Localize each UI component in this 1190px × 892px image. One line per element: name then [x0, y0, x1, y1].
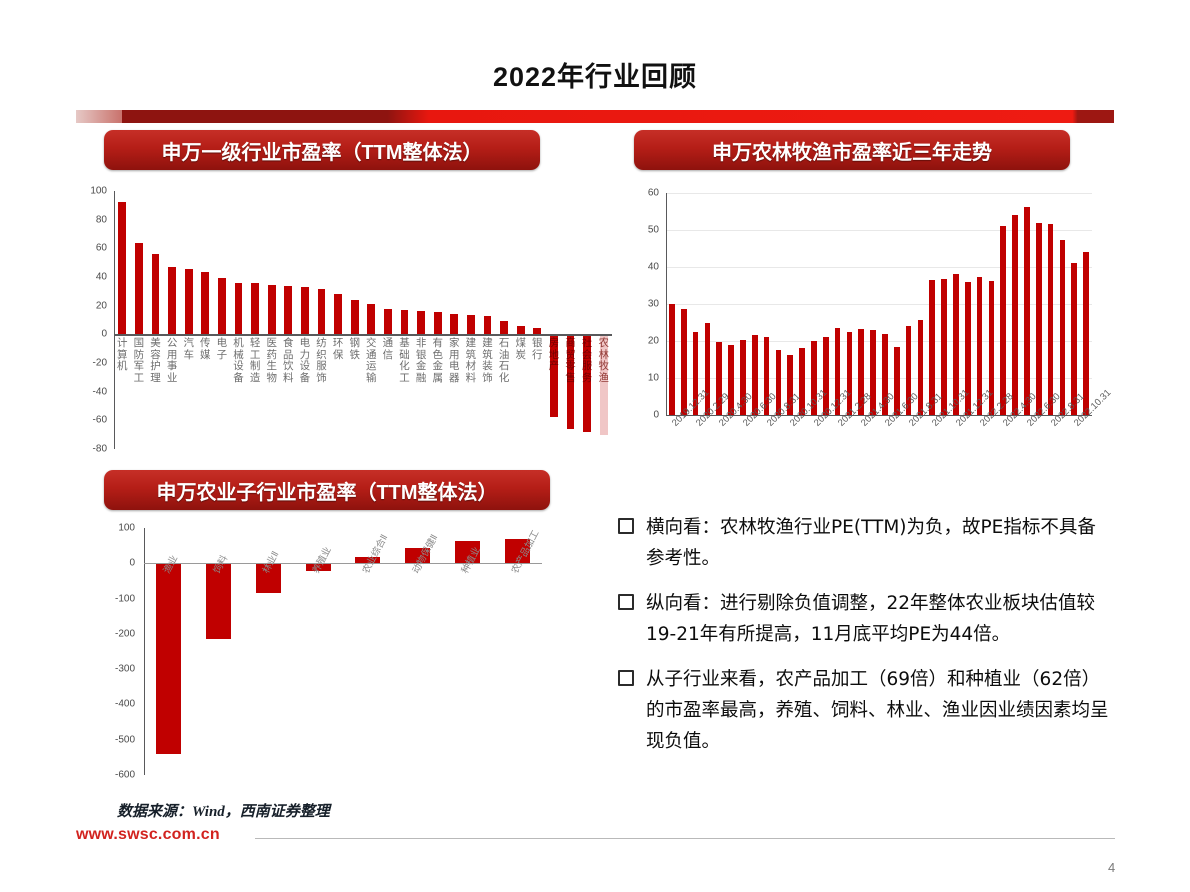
bullet-square-icon [618, 594, 634, 610]
source-note: 数据来源：Wind，西南证券整理 [117, 800, 330, 821]
x-axis-category-label: 家用电器 [447, 338, 461, 384]
y-axis-tick: 60 [78, 243, 107, 254]
bar [118, 202, 126, 334]
x-axis-category-label: 汽车 [182, 338, 196, 361]
y-axis-tick: 0 [100, 558, 135, 569]
bar [351, 300, 359, 334]
x-axis-category-label: 纺织服饰 [315, 338, 329, 384]
x-axis-category-label: 非银金融 [414, 338, 428, 384]
x-axis-category-label: 美容护理 [149, 338, 163, 384]
bar [384, 309, 392, 335]
y-axis-tick: 40 [78, 272, 107, 283]
bullet-item: 横向看：农林牧渔行业PE(TTM)为负，故PE指标不具备参考性。 [618, 512, 1114, 574]
bullet-text: 纵向看：进行剔除负值调整，22年整体农业板块估值较19-21年有所提高，11月底… [646, 588, 1114, 650]
bar [669, 304, 675, 415]
y-axis-tick: 100 [100, 523, 135, 534]
x-axis-category-label: 社会服务 [580, 338, 594, 384]
y-axis-tick: -20 [78, 358, 107, 369]
chart3-banner: 申万农业子行业市盈率（TTM整体法） [104, 470, 550, 510]
x-axis-line [144, 563, 542, 564]
bar [334, 294, 342, 334]
accent-bar [76, 110, 1114, 123]
chart-sw-level1-pe: 100806040200-20-40-60-80计算机国防军工美容护理公用事业汽… [78, 185, 618, 455]
y-axis-tick: -40 [78, 386, 107, 397]
y-axis-line [666, 193, 667, 415]
bar [218, 278, 226, 334]
bar [752, 335, 758, 415]
bullet-list: 横向看：农林牧渔行业PE(TTM)为负，故PE指标不具备参考性。纵向看：进行剔除… [618, 512, 1114, 771]
y-axis-tick: 30 [636, 299, 659, 310]
website-link[interactable]: www.swsc.com.cn [76, 826, 220, 844]
bar [185, 269, 193, 334]
bullet-text: 横向看：农林牧渔行业PE(TTM)为负，故PE指标不具备参考性。 [646, 512, 1114, 574]
bar [152, 254, 160, 334]
x-axis-category-label: 银行 [530, 338, 544, 361]
bar [156, 563, 181, 754]
bar [1024, 207, 1030, 415]
x-axis-line [114, 334, 612, 335]
bar [870, 330, 876, 415]
x-axis-category-label: 交通运输 [364, 338, 378, 384]
bullet-item: 从子行业来看，农产品加工（69倍）和种植业（62倍）的市盈率最高，养殖、饲料、林… [618, 664, 1114, 757]
x-axis-category-label: 养殖业 [308, 544, 334, 576]
bullet-text: 从子行业来看，农产品加工（69倍）和种植业（62倍）的市盈率最高，养殖、饲料、林… [646, 664, 1114, 757]
bar [235, 283, 243, 335]
chart-sw-agri-sub-pe: 1000-100-200-300-400-500-600渔业饲料林业Ⅱ养殖业农业… [100, 520, 550, 785]
bar [318, 289, 326, 334]
y-axis-tick: 60 [636, 188, 659, 199]
bar [251, 283, 259, 334]
bullet-item: 纵向看：进行剔除负值调整，22年整体农业板块估值较19-21年有所提高，11月底… [618, 588, 1114, 650]
x-axis-category-label: 国防军工 [132, 338, 146, 384]
footer-rule [255, 838, 1115, 839]
bar [168, 267, 176, 334]
bar [681, 309, 687, 415]
y-axis-tick: 0 [636, 410, 659, 421]
bar [517, 326, 525, 335]
x-axis-category-label: 通信 [381, 338, 395, 361]
bar [1000, 226, 1006, 415]
bar [467, 315, 475, 334]
x-axis-category-label: 公用事业 [165, 338, 179, 384]
bar [1060, 240, 1066, 415]
x-axis-category-label: 计算机 [115, 338, 129, 373]
y-axis-tick: -300 [100, 664, 135, 675]
x-axis-category-label: 商贸零售 [564, 338, 578, 384]
bar [500, 321, 508, 334]
y-axis-tick: -400 [100, 699, 135, 710]
y-axis-tick: 20 [636, 336, 659, 347]
x-axis-category-label: 医药生物 [265, 338, 279, 384]
bar [1012, 215, 1018, 415]
x-axis-category-label: 建筑材料 [464, 338, 478, 384]
y-axis-tick: 80 [78, 214, 107, 225]
bar [268, 285, 276, 334]
y-axis-tick: -600 [100, 770, 135, 781]
slide-root: 2022年行业回顾 申万一级行业市盈率（TTM整体法） 申万农林牧渔市盈率近三年… [0, 0, 1190, 892]
x-axis-category-label: 煤炭 [514, 338, 528, 361]
y-axis-tick: -80 [78, 444, 107, 455]
y-axis-tick: 50 [636, 225, 659, 236]
x-axis-category-label: 有色金属 [431, 338, 445, 384]
y-axis-line [114, 191, 115, 449]
bar [484, 316, 492, 334]
chart-sw-agri-pe-3y: 60504030201002019.12.312020.2.292020.4.3… [636, 185, 1096, 475]
y-axis-tick: 0 [78, 329, 107, 340]
bar [367, 304, 375, 335]
bar [1036, 223, 1042, 415]
x-axis-category-label: 传媒 [198, 338, 212, 361]
y-axis-tick: 10 [636, 373, 659, 384]
gridline [666, 193, 1092, 194]
bullet-square-icon [618, 518, 634, 534]
y-axis-line [144, 528, 145, 775]
x-axis-category-label: 轻工制造 [248, 338, 262, 384]
bar [301, 287, 309, 334]
bar [1048, 224, 1054, 415]
bar [201, 272, 209, 334]
chart2-banner: 申万农林牧渔市盈率近三年走势 [634, 130, 1070, 170]
x-axis-category-label: 机械设备 [232, 338, 246, 384]
x-axis-category-label: 石油石化 [497, 338, 511, 384]
x-axis-category-label: 房地产 [547, 338, 561, 373]
bar [284, 286, 292, 334]
bar [847, 332, 853, 415]
bullet-square-icon [618, 670, 634, 686]
x-axis-category-label: 建筑装饰 [481, 338, 495, 384]
y-axis-tick: -200 [100, 628, 135, 639]
bar [941, 279, 947, 415]
bar [401, 310, 409, 334]
y-axis-tick: -500 [100, 734, 135, 745]
chart1-banner: 申万一级行业市盈率（TTM整体法） [104, 130, 540, 170]
x-axis-category-label: 食品饮料 [281, 338, 295, 384]
y-axis-tick: 40 [636, 262, 659, 273]
page-number: 4 [1108, 860, 1115, 875]
x-axis-category-label: 基础化工 [398, 338, 412, 384]
bar [135, 243, 143, 335]
y-axis-tick: -100 [100, 593, 135, 604]
x-axis-category-label: 电力设备 [298, 338, 312, 384]
y-axis-tick: 100 [78, 186, 107, 197]
x-axis-category-label: 农林牧渔 [597, 338, 611, 384]
y-axis-tick: 20 [78, 300, 107, 311]
x-axis-category-label: 电子 [215, 338, 229, 361]
x-axis-category-label: 钢铁 [348, 338, 362, 361]
y-axis-tick: -60 [78, 415, 107, 426]
bar [417, 311, 425, 334]
bar [434, 312, 442, 334]
x-axis-category-label: 环保 [331, 338, 345, 361]
page-title: 2022年行业回顾 [0, 55, 1190, 94]
bar [1083, 252, 1089, 415]
x-axis-category-label: 农业综合Ⅱ [358, 532, 390, 576]
bar [450, 314, 458, 335]
